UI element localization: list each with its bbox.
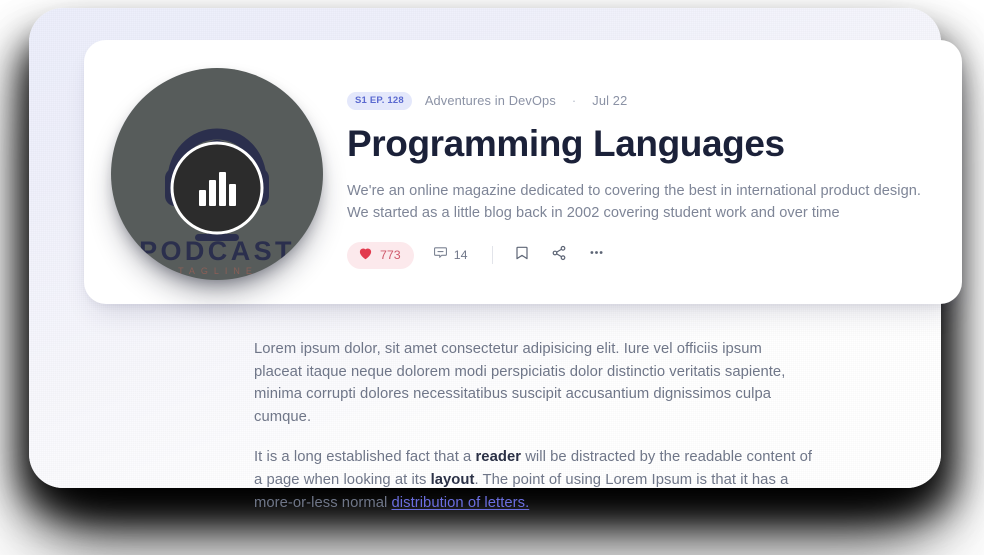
- podcast-episode-card: PODCAST TAGLINE S1 EP. 128 Adventures in…: [84, 40, 962, 304]
- comment-icon: [433, 245, 448, 265]
- more-horizontal-icon: [588, 244, 605, 266]
- episode-actions: 773 14: [347, 241, 939, 269]
- share-button[interactable]: [545, 241, 573, 269]
- bookmark-button[interactable]: [508, 241, 536, 269]
- show-name[interactable]: Adventures in DevOps: [425, 93, 556, 108]
- article-body: Lorem ipsum dolor, sit amet consectetur …: [254, 338, 814, 514]
- svg-text:PODCAST: PODCAST: [139, 236, 295, 266]
- article-paragraph-2: It is a long established fact that a rea…: [254, 446, 814, 514]
- podcast-artwork-circle: PODCAST TAGLINE: [111, 68, 323, 280]
- heart-icon: [358, 246, 373, 265]
- episode-badge[interactable]: S1 EP. 128: [347, 92, 412, 110]
- episode-meta-row: S1 EP. 128 Adventures in DevOps · Jul 22: [347, 91, 939, 110]
- para2-bold-layout: layout: [431, 472, 475, 488]
- para2-bold-reader: reader: [475, 449, 521, 465]
- actions-divider: [492, 246, 493, 264]
- share-icon: [551, 245, 567, 266]
- para2-text-1: It is a long established fact that a: [254, 449, 475, 465]
- outer-panel: PODCAST TAGLINE S1 EP. 128 Adventures in…: [29, 8, 941, 488]
- distribution-of-letters-link[interactable]: distribution of letters.: [392, 495, 530, 511]
- episode-description: We're an online magazine dedicated to co…: [347, 181, 937, 224]
- episode-date: Jul 22: [592, 93, 627, 108]
- episode-title: Programming Languages: [347, 122, 939, 166]
- podcast-logo-icon: PODCAST TAGLINE: [111, 68, 323, 280]
- more-button[interactable]: [582, 241, 610, 269]
- svg-text:TAGLINE: TAGLINE: [178, 266, 258, 276]
- episode-details: S1 EP. 128 Adventures in DevOps · Jul 22…: [347, 91, 939, 269]
- podcast-artwork[interactable]: PODCAST TAGLINE: [111, 68, 323, 280]
- like-button[interactable]: 773: [347, 242, 414, 269]
- comment-button[interactable]: 14: [423, 242, 478, 269]
- bookmark-icon: [514, 245, 530, 266]
- like-count: 773: [380, 248, 401, 262]
- screenshot-stage: PODCAST TAGLINE S1 EP. 128 Adventures in…: [0, 0, 984, 555]
- article-paragraph-1: Lorem ipsum dolor, sit amet consectetur …: [254, 338, 814, 428]
- meta-separator: ·: [569, 93, 579, 108]
- comment-count: 14: [454, 248, 468, 262]
